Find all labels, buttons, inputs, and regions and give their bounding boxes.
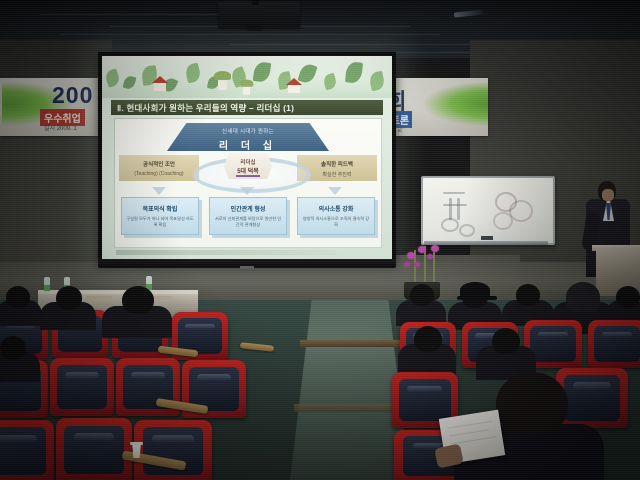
trapezoid-title: 리 더 십: [167, 135, 329, 152]
seat-cushion: [57, 365, 107, 409]
papers: [86, 296, 112, 301]
house-icon: [154, 82, 166, 91]
hex-underline: [236, 175, 260, 177]
cushion-highlight: [65, 372, 99, 379]
leaf-icon: [322, 73, 338, 91]
seat: [588, 320, 640, 368]
lecture-hall-photo: 200 우수취업 일시 2009. 1 수회 공전학토론 학교 한경대학교: [0, 0, 640, 480]
box-body: 구성원 모두가 하나 되어 목표달성 하도록 확립: [122, 213, 198, 229]
whiteboard-mark: [441, 218, 459, 232]
orchid-bloom: [431, 245, 439, 252]
presenter-face: [602, 189, 614, 201]
box-heading: 목표의식 확립: [122, 198, 198, 213]
seat: [50, 358, 114, 416]
eraser-icon: [481, 236, 493, 240]
head: [0, 336, 26, 360]
head: [410, 284, 434, 306]
cushion-highlight: [152, 435, 193, 443]
slide-footnote: [116, 250, 336, 255]
projector-lens-icon: [246, 24, 264, 31]
house-icon: [288, 84, 300, 93]
arrow-down-icon: [240, 187, 254, 195]
whiteboard-mark: [457, 198, 460, 220]
seat: [0, 420, 54, 480]
mushroom-icon: [243, 85, 250, 95]
head: [516, 284, 540, 306]
arrow-down-icon: [152, 187, 166, 195]
seat-cushion: [399, 379, 450, 422]
projector-mount: [252, 0, 259, 5]
whiteboard: [421, 176, 555, 245]
head: [56, 286, 82, 310]
booklet-line: [448, 421, 492, 429]
cushion-highlight: [602, 332, 633, 338]
water-bottle: [44, 277, 50, 294]
side-panel-left: 공식적인 조언 (Teaching) (Coaching): [119, 155, 199, 181]
seat-cushion: [594, 326, 639, 362]
head: [616, 286, 640, 308]
box-heading: 의사소통 강화: [298, 198, 374, 213]
whiteboard-mark: [443, 192, 465, 194]
orchid-stem: [433, 252, 435, 286]
box-body: 쌍방적 의사소통으로 조직의 결속력 강화: [298, 213, 374, 229]
leaf-icon: [345, 61, 363, 84]
side-panel-title: 솔직한 피드백: [297, 155, 377, 168]
center-hexagon: 리더십 5대 덕목: [224, 153, 272, 179]
mushroom-icon: [218, 78, 227, 90]
seat: [134, 420, 212, 480]
bottom-box-3: 의사소통 강화 쌍방적 의사소통으로 조직의 결속력 강화: [297, 197, 375, 235]
orchid-bloom: [404, 262, 410, 267]
orchid-bloom: [407, 252, 415, 259]
leaf-icon: [123, 75, 137, 90]
cup-lid: [130, 442, 143, 445]
seat-cushion: [564, 375, 620, 421]
side-panel-sub: (Teaching) (Coaching): [119, 168, 199, 177]
side-panel-title: 공식적인 조언: [119, 155, 199, 168]
banner-year: 200: [52, 82, 93, 109]
orchid-bloom: [418, 246, 426, 253]
head: [6, 286, 30, 308]
slide-leaf-header: [102, 56, 392, 98]
center-hexagon-group: 리더십 5대 덕목: [193, 151, 303, 189]
leaf-icon: [368, 71, 385, 92]
cushion-highlight: [573, 382, 611, 389]
cushion-highlight: [131, 372, 165, 379]
presentation-slide: Ⅱ. 현대사회가 원하는 우리들의 역량 – 리더십 (1) 신세대 시대가 원…: [102, 56, 392, 260]
hex-line1: 리더십: [224, 153, 272, 166]
seat-cushion: [64, 426, 123, 475]
head: [496, 372, 568, 436]
whiteboard-tray: [424, 241, 548, 245]
hex-line2: 5대 덕목: [224, 166, 272, 175]
ceiling-line: [40, 14, 240, 15]
ceiling-line: [60, 34, 440, 35]
leadership-header-shape: 신세대 시대가 원하는 리 더 십: [167, 123, 329, 151]
seat: [56, 418, 132, 480]
whiteboard-mark: [493, 212, 513, 230]
leaf-icon: [104, 68, 122, 87]
whiteboard-mark: [443, 204, 467, 206]
orchid-bloom: [427, 254, 433, 259]
bottom-box-2: 인간관계 형성 서로의 신뢰관계를 바탕으로 원만한 인간적 관계형성: [209, 197, 287, 235]
aisle-step: [300, 340, 404, 347]
booklet-line: [451, 436, 497, 444]
box-heading: 인간관계 형성: [210, 198, 286, 213]
whiteboard-mark: [449, 198, 452, 220]
hood: [566, 282, 600, 312]
head: [492, 328, 520, 354]
whiteboard-mark: [459, 224, 475, 237]
leaf-icon: [184, 63, 202, 84]
bottom-box-1: 목표의식 확립 구성원 모두가 하나 되어 목표달성 하도록 확립: [121, 197, 199, 235]
cushion-highlight: [0, 435, 37, 443]
arrow-down-icon: [328, 187, 342, 195]
cushion-highlight: [538, 332, 569, 338]
cushion-highlight: [197, 374, 231, 381]
trapezoid-subtitle: 신세대 시대가 원하는: [167, 123, 329, 135]
slide-title: Ⅱ. 현대사회가 원하는 우리들의 역량 – 리더십 (1): [111, 102, 294, 114]
swoosh-icon: [424, 82, 488, 126]
slide-content-area: 신세대 시대가 원하는 리 더 십 공식적인 조언 (Teaching) (Co…: [114, 118, 382, 248]
orchid-bloom: [414, 262, 420, 267]
cushion-highlight: [185, 324, 215, 330]
head: [414, 326, 442, 352]
booklet-line: [449, 429, 489, 436]
slide-title-bar: Ⅱ. 현대사회가 원하는 우리들의 역량 – 리더십 (1): [111, 100, 383, 115]
leaf-icon: [253, 61, 272, 83]
cushion-highlight: [407, 386, 442, 393]
screen-pull-knob: [240, 266, 254, 269]
box-body: 서로의 신뢰관계를 바탕으로 원만한 인간적 관계형성: [210, 213, 286, 229]
cap-icon: [460, 282, 490, 298]
seat-cushion: [530, 326, 575, 362]
seat-cushion: [0, 427, 46, 474]
cushion-highlight: [74, 433, 114, 441]
banner-sub-text: 일시 2009. 1: [44, 123, 77, 132]
head: [122, 286, 154, 314]
